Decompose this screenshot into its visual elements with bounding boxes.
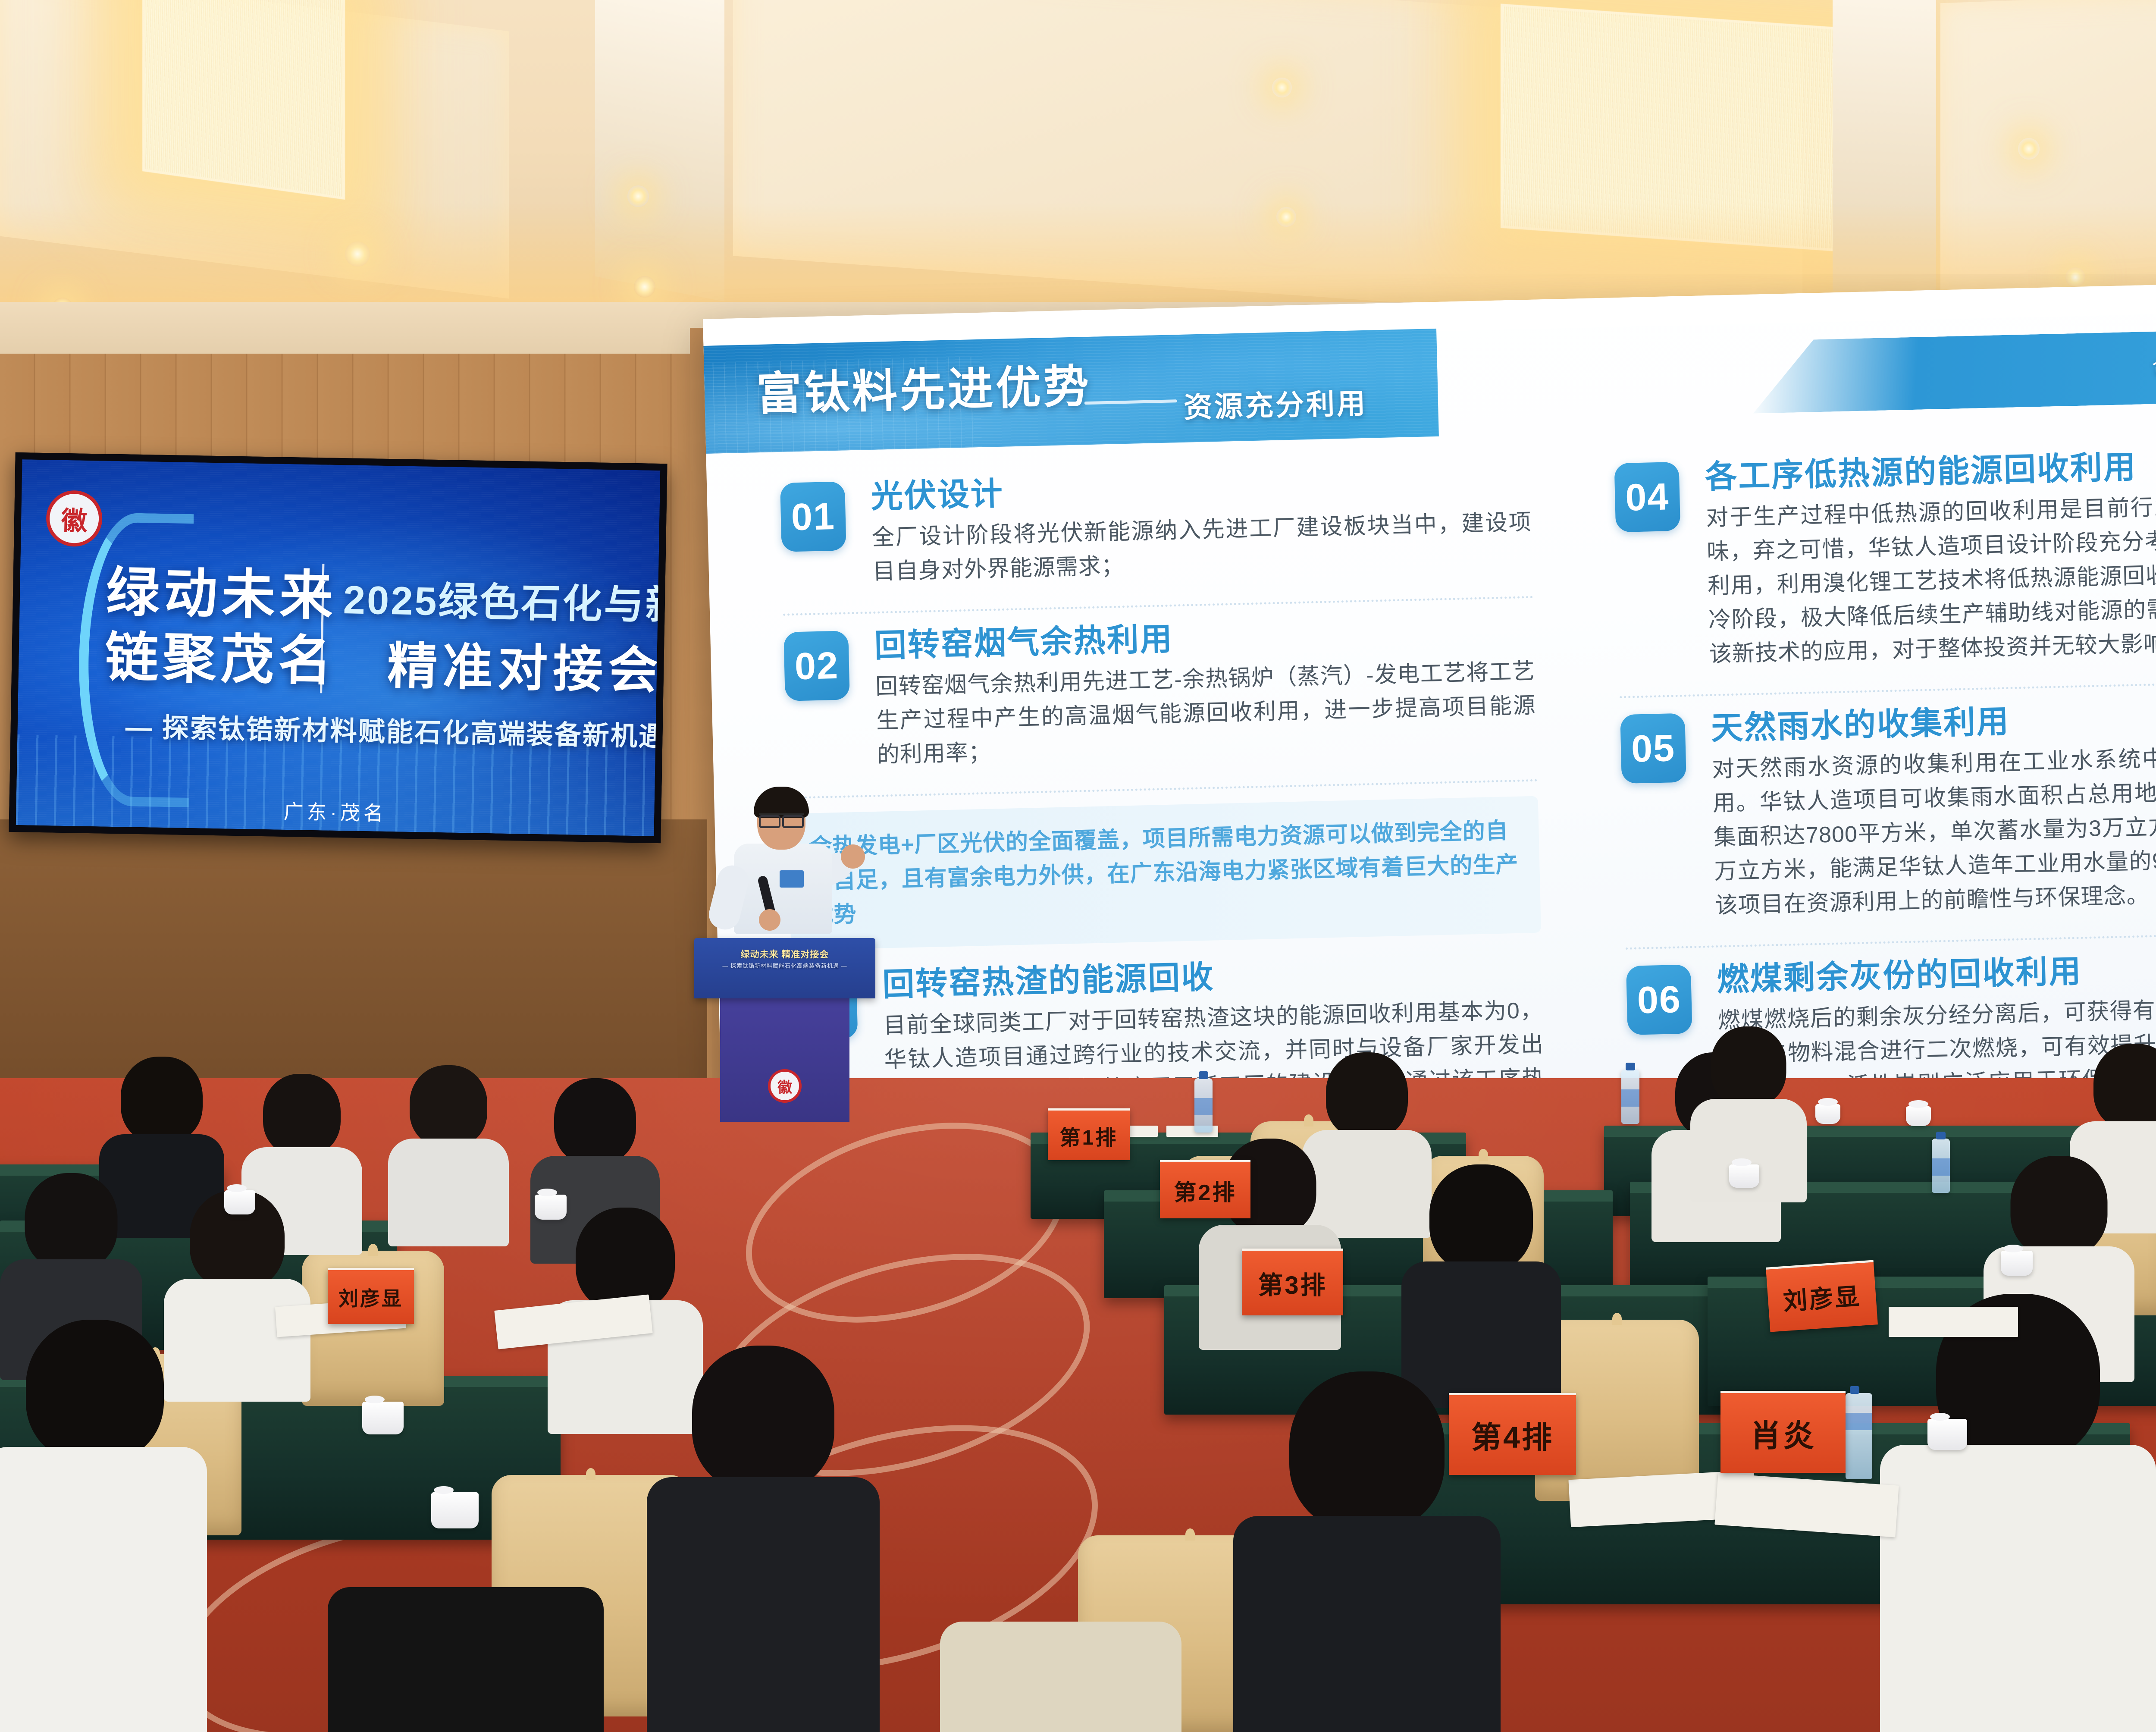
item-body: 对于生产过程中低热源的回收利用是目前行业当中硬骨头-食之无味，弃之可惜，华钛人造… (1706, 486, 2156, 672)
water-bottle (1621, 1070, 1639, 1124)
item-divider (783, 596, 1533, 616)
person-head (2093, 1044, 2156, 1130)
person-head (1711, 1026, 1786, 1106)
person-body (1880, 1445, 2156, 1732)
speaker-torso (734, 844, 832, 934)
tea-cup (224, 1190, 255, 1214)
audience-member (388, 1065, 509, 1238)
tea-cup (1815, 1104, 1840, 1124)
name-placard: 刘彦显 (1766, 1260, 1878, 1332)
event-title-line-2: 精准对接会 (387, 625, 660, 703)
event-subtitle: — 探索钛锆新材料赋能石化高端装备新机遇 — (125, 705, 660, 754)
item-title: 光伏设计 (871, 464, 1531, 515)
slide-item-05: 05 天然雨水的收集利用 对天然雨水资源的收集利用在工业水系统中能起到事半功倍的… (1620, 695, 2156, 925)
item-divider (1620, 678, 2156, 698)
audience-member (1401, 1164, 1561, 1406)
paper-document (1889, 1307, 2018, 1337)
ceiling-spotlight (634, 276, 655, 298)
audience-member (0, 1320, 207, 1732)
audience-member (647, 1346, 880, 1732)
slogan-line-2: 链聚茂名 (104, 628, 336, 691)
slide-highlight-callout: 余热发电+厂区光伏的全面覆盖，项目所需电力资源可以做到完全的自给自足，且有富余电… (788, 796, 1541, 951)
person-head (576, 1208, 675, 1311)
person-head (1326, 1052, 1408, 1139)
podium-branding: 绿动未来 精准对接会 — 探索钛锆新材料赋能石化高端装备新机遇 — (705, 949, 865, 970)
name-placard: 刘彦显 (328, 1268, 414, 1324)
conference-hall-scene: 富钛料先进优势 资源充分利用 合作共赢 共兴钛业 01 光伏设计 全厂设计阶段将… (0, 0, 2156, 1732)
speaker-left-hand (759, 909, 780, 931)
podium-top: 绿动未来 精准对接会 — 探索钛锆新材料赋能石化高端装备新机遇 — (694, 938, 875, 998)
tea-cup (362, 1402, 404, 1434)
tea-cup (535, 1195, 567, 1220)
slide-tagline: 合作共赢 共兴钛业 (2151, 345, 2156, 380)
podium-body: 徽 (720, 997, 849, 1122)
slide-tagline-band (1752, 325, 2156, 414)
ceiling-spotlight (345, 242, 370, 267)
tea-cup (1906, 1106, 1931, 1126)
foreground-silhouette (328, 1587, 604, 1732)
foreground-chair-silhouette (940, 1622, 1181, 1732)
person-head (410, 1065, 487, 1147)
row-placard: 第1排 (1048, 1108, 1130, 1160)
tea-cup (1729, 1164, 1759, 1188)
item-title: 天然雨水的收集利用 (1711, 695, 2156, 747)
item-title: 回转窑烟气余热利用 (874, 613, 1535, 664)
eyeglasses-icon (759, 813, 804, 824)
person-head (121, 1057, 203, 1143)
slide-item-02: 02 回转窑烟气余热利用 回转窑烟气余热利用先进工艺-余热锅炉（蒸汽）-发电工艺… (783, 613, 1537, 775)
row-placard: 第4排 (1449, 1393, 1576, 1475)
item-title: 燃煤剩余灰份的回收利用 (1717, 947, 2156, 998)
row-placard: 第3排 (1242, 1249, 1343, 1315)
item-divider (1626, 930, 2156, 950)
organization-seal-icon: 徽 (768, 1069, 802, 1103)
tea-cup (1927, 1419, 1967, 1450)
item-divider (787, 779, 1538, 799)
name-placard: 肖炎 (1720, 1391, 1846, 1473)
water-bottle (1194, 1078, 1213, 1133)
row-placard: 第2排 (1160, 1160, 1250, 1218)
side-display-content: 徽 绿动未来 链聚茂名 2025绿色石化与新材料 精准对接会 — 探索钛锆新材料… (16, 459, 661, 836)
person-body (1233, 1516, 1501, 1732)
ceiling (0, 0, 2156, 328)
item-body: 回转窑烟气余热利用先进工艺-余热锅炉（蒸汽）-发电工艺将工艺生产过程中产生的高温… (875, 655, 1537, 772)
ceiling-spotlight (1276, 207, 1296, 227)
item-number-badge: 06 (1626, 965, 1692, 1035)
water-bottle (1846, 1393, 1872, 1479)
chandelier-left (142, 0, 345, 200)
podium-slogan: 绿动未来 (741, 950, 779, 960)
item-body: 对天然雨水资源的收集利用在工业水系统中能起到事半功倍的作用。华钛人造项目可收集雨… (1711, 737, 2156, 923)
slogan-line-1: 绿动未来 (106, 563, 338, 626)
organization-seal-icon: 徽 (46, 490, 103, 547)
podium-event-subtitle: — 探索钛锆新材料赋能石化高端装备新机遇 — (705, 963, 865, 970)
item-body: 全厂设计阶段将光伏新能源纳入先进工厂建设板块当中，建设项目自身对外界能源需求； (871, 505, 1532, 589)
person-head (692, 1346, 834, 1492)
person-head (263, 1074, 341, 1156)
slide-title: 富钛料先进优势 (755, 350, 1092, 423)
item-number-badge: 04 (1614, 462, 1680, 532)
item-title: 回转窑热渣的能源回收 (882, 952, 1543, 1003)
person-head (2011, 1156, 2108, 1257)
person-head (25, 1173, 118, 1270)
slide-subtitle: 资源充分利用 (1183, 380, 1368, 426)
presentation-slide: 富钛料先进优势 资源充分利用 合作共赢 共兴钛业 01 光伏设计 全厂设计阶段将… (703, 278, 2156, 1125)
event-title-line-1: 2025绿色石化与新材料 (343, 568, 660, 632)
event-location: 广东·茂名 (283, 796, 387, 826)
water-bottle (1932, 1139, 1950, 1193)
ceiling-spotlight (2065, 267, 2085, 287)
item-number-badge: 05 (1620, 713, 1686, 784)
person-head (26, 1320, 164, 1462)
side-display-left: 徽 绿动未来 链聚茂名 2025绿色石化与新材料 精准对接会 — 探索钛锆新材料… (9, 452, 667, 843)
item-number-badge: 01 (780, 481, 846, 552)
tea-cup (2001, 1251, 2033, 1276)
podium-event-title: 精准对接会 (781, 950, 829, 960)
item-number-badge: 02 (783, 631, 850, 701)
speaker-right-hand (841, 844, 865, 869)
person-head (554, 1078, 636, 1164)
slide-column-left: 01 光伏设计 全厂设计阶段将光伏新能源纳入先进工厂建设板块当中，建设项目自身对… (780, 464, 1547, 1126)
item-title: 各工序低热源的能源回收利用 (1705, 444, 2156, 495)
person-head (1429, 1164, 1533, 1272)
event-slogan: 绿动未来 链聚茂名 (104, 560, 338, 695)
person-head (1289, 1371, 1445, 1531)
person-body (647, 1477, 880, 1732)
person-body (0, 1447, 207, 1732)
speaker-podium: 徽 绿动未来 精准对接会 — 探索钛锆新材料赋能石化高端装备新机遇 — (694, 938, 875, 1119)
person-body (388, 1139, 509, 1246)
slide-item-01: 01 光伏设计 全厂设计阶段将光伏新能源纳入先进工厂建设板块当中，建设项目自身对… (780, 464, 1533, 591)
audience-member (1880, 1294, 2156, 1732)
ceiling-spotlight (1272, 78, 1292, 97)
main-led-screen: 富钛料先进优势 资源充分利用 合作共赢 共兴钛业 01 光伏设计 全厂设计阶段将… (703, 278, 2156, 1125)
tea-cup (431, 1492, 479, 1528)
ceiling-spotlight (627, 185, 649, 207)
slide-item-04: 04 各工序低热源的能源回收利用 对于生产过程中低热源的回收利用是目前行业当中硬… (1614, 444, 2156, 674)
ceiling-spotlight (2018, 138, 2040, 160)
speaker-name-badge (780, 870, 804, 888)
slide-column-right: 04 各工序低热源的能源回收利用 对于生产过程中低热源的回收利用是目前行业当中硬… (1614, 444, 2156, 1126)
